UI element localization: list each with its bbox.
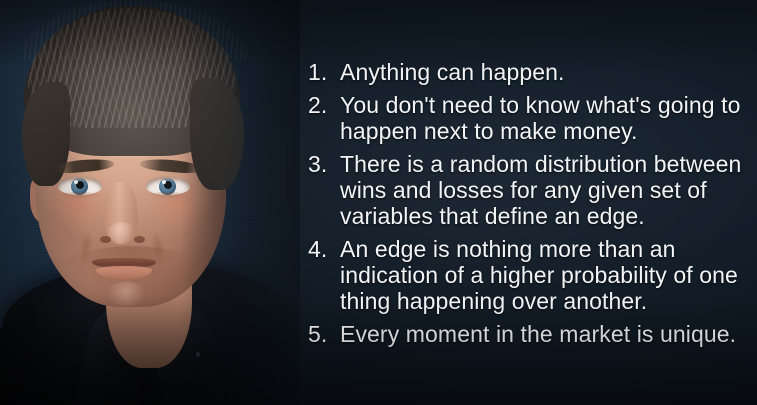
hair-wisps xyxy=(20,0,248,60)
list-item-text: There is a random distribution between w… xyxy=(340,151,753,229)
under-eye-left xyxy=(56,192,104,202)
list-item: 3. There is a random distribution betwee… xyxy=(308,151,753,229)
list-item: 1. Anything can happen. xyxy=(308,59,753,85)
list-item: 5. Every moment in the market is unique. xyxy=(308,321,753,347)
list-item-number: 1. xyxy=(308,59,340,85)
eyelid-left xyxy=(58,176,102,182)
chin-highlight xyxy=(104,282,148,306)
list-item: 2. You don't need to know what's going t… xyxy=(308,92,753,144)
list-item-text: Every moment in the market is unique. xyxy=(340,321,753,347)
nose-tip-highlight xyxy=(108,222,136,242)
list-item-number: 2. xyxy=(308,92,340,118)
under-eye-right xyxy=(144,192,192,202)
list-item: 4. An edge is nothing more than an indic… xyxy=(308,236,753,314)
portrait-photo xyxy=(0,0,300,405)
fundamental-truths-list: 1. Anything can happen. 2. You don't nee… xyxy=(308,59,757,347)
list-item-text: An edge is nothing more than an indicati… xyxy=(340,236,753,314)
list-item-number: 4. xyxy=(308,236,340,262)
portrait-figure xyxy=(0,0,300,405)
list-item-number: 5. xyxy=(308,321,340,347)
shirt-button xyxy=(196,352,200,357)
text-column: 1. Anything can happen. 2. You don't nee… xyxy=(308,0,757,405)
nostril-right xyxy=(134,236,145,243)
list-item-text: You don't need to know what's going to h… xyxy=(340,92,753,144)
slide-root: 1. Anything can happen. 2. You don't nee… xyxy=(0,0,757,405)
list-item-text: Anything can happen. xyxy=(340,59,753,85)
list-item-number: 3. xyxy=(308,151,340,177)
nostril-left xyxy=(100,236,111,243)
eyelid-right xyxy=(146,176,190,182)
